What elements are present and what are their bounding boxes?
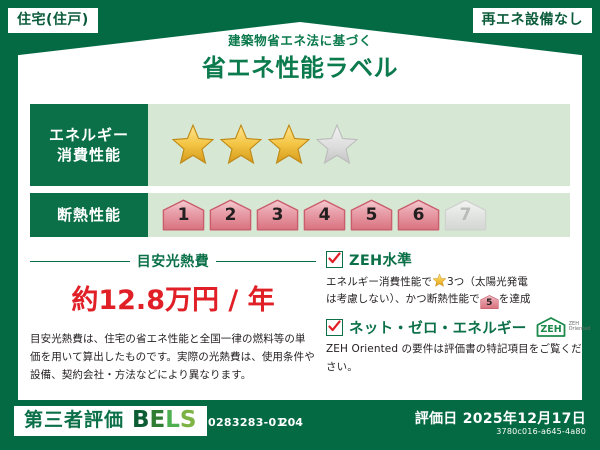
lower-section: 目安光熱費 約12.8万円 / 年 目安光熱費は、住宅の省エネ性能と全国一律の燃… (30, 249, 570, 384)
grade-badge-inline: 5 (480, 295, 499, 310)
third-party-evaluation-label: 第三者評価 (24, 411, 124, 430)
utility-cost-column: 目安光熱費 約12.8万円 / 年 目安光熱費は、住宅の省エネ性能と全国一律の燃… (30, 249, 316, 384)
insulation-performance-key: 断熱性能 (30, 193, 148, 237)
zeh-desc-part1: エネルギー消費性能で (326, 276, 432, 288)
net-zero-heading: ネット・ゼロ・エネルギー ZEH ZEH Oriented (326, 316, 590, 338)
star-filled-icon (266, 122, 312, 168)
zeh-standard-description: エネルギー消費性能で3つ（太陽光発電 は考慮しない）、かつ断熱性能で5を達成 (326, 273, 590, 310)
bels-letter-b: B (132, 407, 150, 433)
utility-cost-note: 目安光熱費は、住宅の省エネ性能と全国一律の燃料等の単価を用いて算出したものです。… (30, 330, 316, 384)
zeh-logo: ZEH ZEH Oriented (535, 316, 591, 338)
zeh-desc-stars: 3つ（太陽光発電 (447, 276, 528, 288)
star-inline-icon (432, 273, 447, 288)
zeh-standard-heading: ZEH水準 (326, 249, 590, 270)
net-zero-energy-block: ネット・ゼロ・エネルギー ZEH ZEH Oriented (326, 316, 590, 376)
check-icon (328, 320, 341, 333)
energy-performance-label-line2: 消費性能 (57, 145, 121, 165)
zeh-desc-part3: を達成 (499, 293, 531, 305)
grade-chip-active: 6 (397, 199, 440, 231)
unit-number: 204 (280, 416, 303, 429)
star-filled-icon (218, 122, 264, 168)
utility-cost-title: 目安光熱費 (137, 251, 210, 271)
certificate-id: 0283283-01 (208, 416, 284, 429)
grade-number: 6 (413, 207, 425, 231)
rule-right (216, 261, 316, 262)
insulation-performance-label: 断熱性能 (57, 205, 121, 225)
insulation-grade-scale: 1234567 (148, 193, 570, 237)
bels-letter-s: S (180, 407, 197, 433)
net-zero-description: ZEH Oriented の要件は評価書の特記項目をご覧ください。 (326, 341, 590, 376)
grade-number: 5 (366, 207, 378, 231)
rule-left (30, 261, 130, 262)
zeh-standard-checkbox[interactable] (326, 251, 343, 268)
label-footer: 第三者評価 BELS 0283283-01 204 評価日 2025年12月17… (0, 400, 600, 450)
energy-performance-label-line1: エネルギー (49, 125, 129, 145)
check-icon (328, 252, 341, 265)
net-zero-title: ネット・ゼロ・エネルギー (349, 317, 527, 338)
grade-number: 1 (178, 207, 190, 231)
star-empty-icon (314, 122, 360, 168)
grade-chip-active: 2 (209, 199, 252, 231)
grade-number: 2 (225, 207, 237, 231)
bels-letter-l: L (165, 407, 180, 433)
bels-logo-box: 第三者評価 BELS (14, 406, 207, 436)
grade-chip-inactive: 7 (444, 199, 487, 231)
zeh-standard-title: ZEH水準 (349, 249, 412, 270)
energy-performance-row: エネルギー 消費性能 (30, 104, 570, 186)
star-filled-icon (170, 122, 216, 168)
zeh-standard-block: ZEH水準 エネルギー消費性能で3つ（太陽光発電 は考慮しない）、かつ断熱性能で… (326, 249, 590, 310)
utility-cost-heading: 目安光熱費 (30, 251, 316, 271)
label-title: 省エネ性能ラベル (0, 48, 600, 83)
zeh-house-logo-icon: ZEH (535, 316, 567, 338)
net-zero-checkbox[interactable] (326, 319, 343, 336)
evaluation-uuid: 3780c016-a645-4a80 (496, 427, 586, 436)
label-subtitle: 建築物省エネ法に基づく (0, 30, 600, 49)
zeh-column: ZEH水準 エネルギー消費性能で3つ（太陽光発電 は考慮しない）、かつ断熱性能で… (316, 249, 590, 384)
grade-number: 7 (460, 207, 472, 231)
grade-number: 4 (319, 207, 331, 231)
energy-performance-key: エネルギー 消費性能 (30, 104, 148, 186)
energy-performance-label: 住宅(住戸) 再エネ設備なし 建築物省エネ法に基づく 省エネ性能ラベル エネルギ… (0, 0, 600, 450)
grade-chip-active: 4 (303, 199, 346, 231)
grade-badge-inline-number: 5 (486, 299, 492, 310)
evaluation-date: 評価日 2025年12月17日 (415, 408, 586, 428)
grade-number: 3 (272, 207, 284, 231)
grade-chip-active: 5 (350, 199, 393, 231)
zeh-logo-caption: ZEH Oriented (569, 322, 591, 334)
insulation-performance-row: 断熱性能 1234567 (30, 193, 570, 237)
bels-letter-e: E (150, 407, 166, 433)
zeh-logo-caption-line2: Oriented (569, 326, 591, 332)
utility-cost-value: 約12.8万円 / 年 (30, 278, 316, 317)
grade-chip-active: 3 (256, 199, 299, 231)
zeh-desc-part2: は考慮しない）、かつ断熱性能で (326, 293, 480, 305)
star-rating (148, 104, 570, 186)
bels-wordmark: BELS (132, 409, 196, 432)
label-body-card: エネルギー 消費性能 断熱性能 1234567 目安光熱費 約12.8万円 / … (18, 94, 582, 400)
grade-chip-active: 1 (162, 199, 205, 231)
svg-text:ZEH: ZEH (540, 324, 561, 335)
